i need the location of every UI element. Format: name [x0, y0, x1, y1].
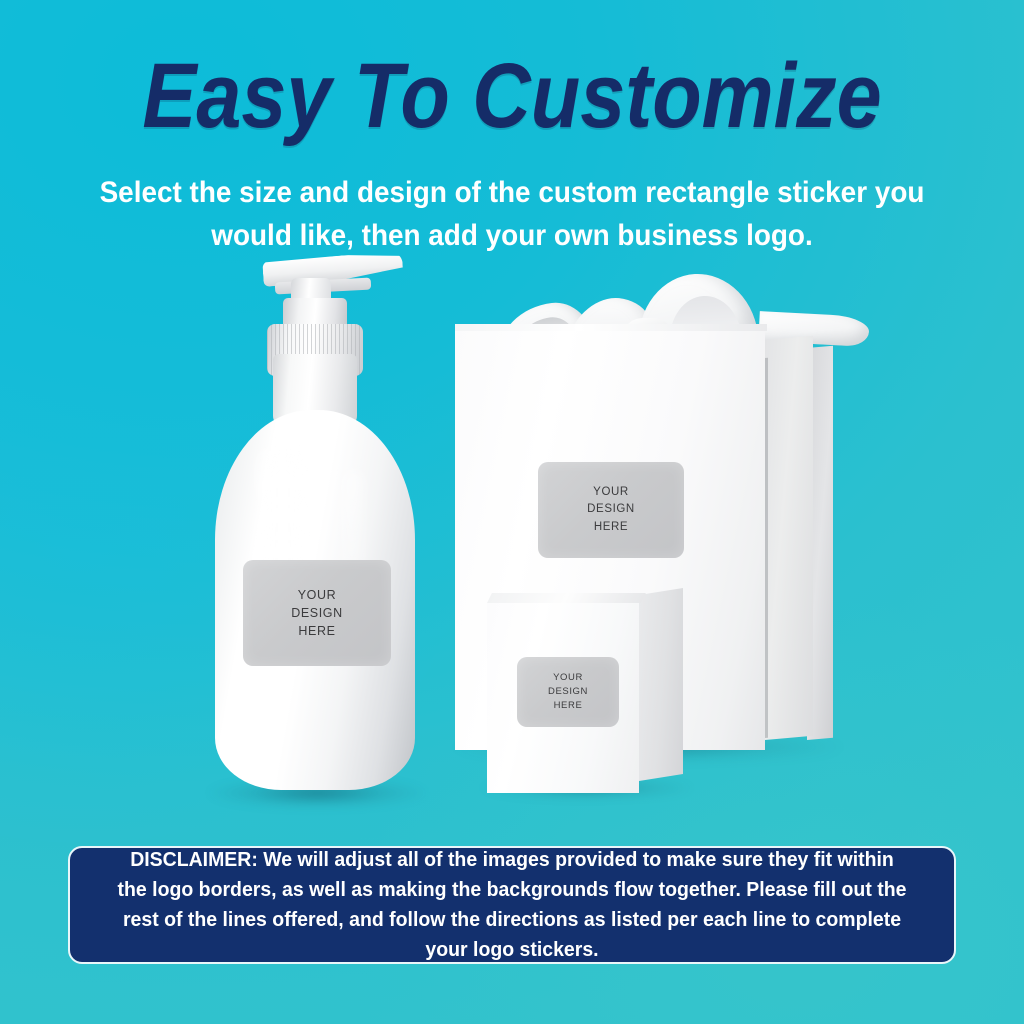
sticker-line-2: DESIGN	[548, 685, 588, 699]
sticker-line-2: DESIGN	[587, 501, 635, 518]
sticker-line-1: YOUR	[298, 586, 337, 604]
product-mockup-scene: YOUR DESIGN HERE YOUR DESIGN HERE	[0, 250, 1024, 830]
sticker-label-bottle: YOUR DESIGN HERE	[243, 560, 391, 666]
small-box: YOUR DESIGN HERE	[487, 595, 687, 810]
small-box-side-panel	[639, 588, 683, 781]
sticker-line-1: YOUR	[593, 484, 629, 501]
page-title: Easy To Customize	[61, 50, 962, 142]
promo-graphic: Easy To Customize Select the size and de…	[0, 0, 1024, 1024]
sticker-label-small-box: YOUR DESIGN HERE	[517, 657, 619, 727]
disclaimer-banner: DISCLAIMER: We will adjust all of the im…	[68, 846, 956, 964]
sticker-line-2: DESIGN	[291, 604, 343, 622]
sticker-line-3: HERE	[594, 519, 628, 536]
page-subtitle: Select the size and design of the custom…	[94, 172, 931, 257]
sticker-line-3: HERE	[298, 622, 335, 640]
sticker-label-gift-box: YOUR DESIGN HERE	[538, 462, 684, 558]
sticker-line-3: HERE	[554, 699, 583, 713]
pump-bottle: YOUR DESIGN HERE	[215, 410, 415, 790]
gift-box-lid-seam	[765, 358, 768, 738]
sticker-line-1: YOUR	[553, 671, 583, 685]
disclaimer-text: DISCLAIMER: We will adjust all of the im…	[117, 845, 907, 965]
disclaimer-prefix: DISCLAIMER:	[130, 848, 258, 871]
small-box-top-panel	[487, 593, 646, 603]
gift-box-top-edge	[455, 324, 767, 331]
gift-box-side-panel	[765, 336, 813, 740]
